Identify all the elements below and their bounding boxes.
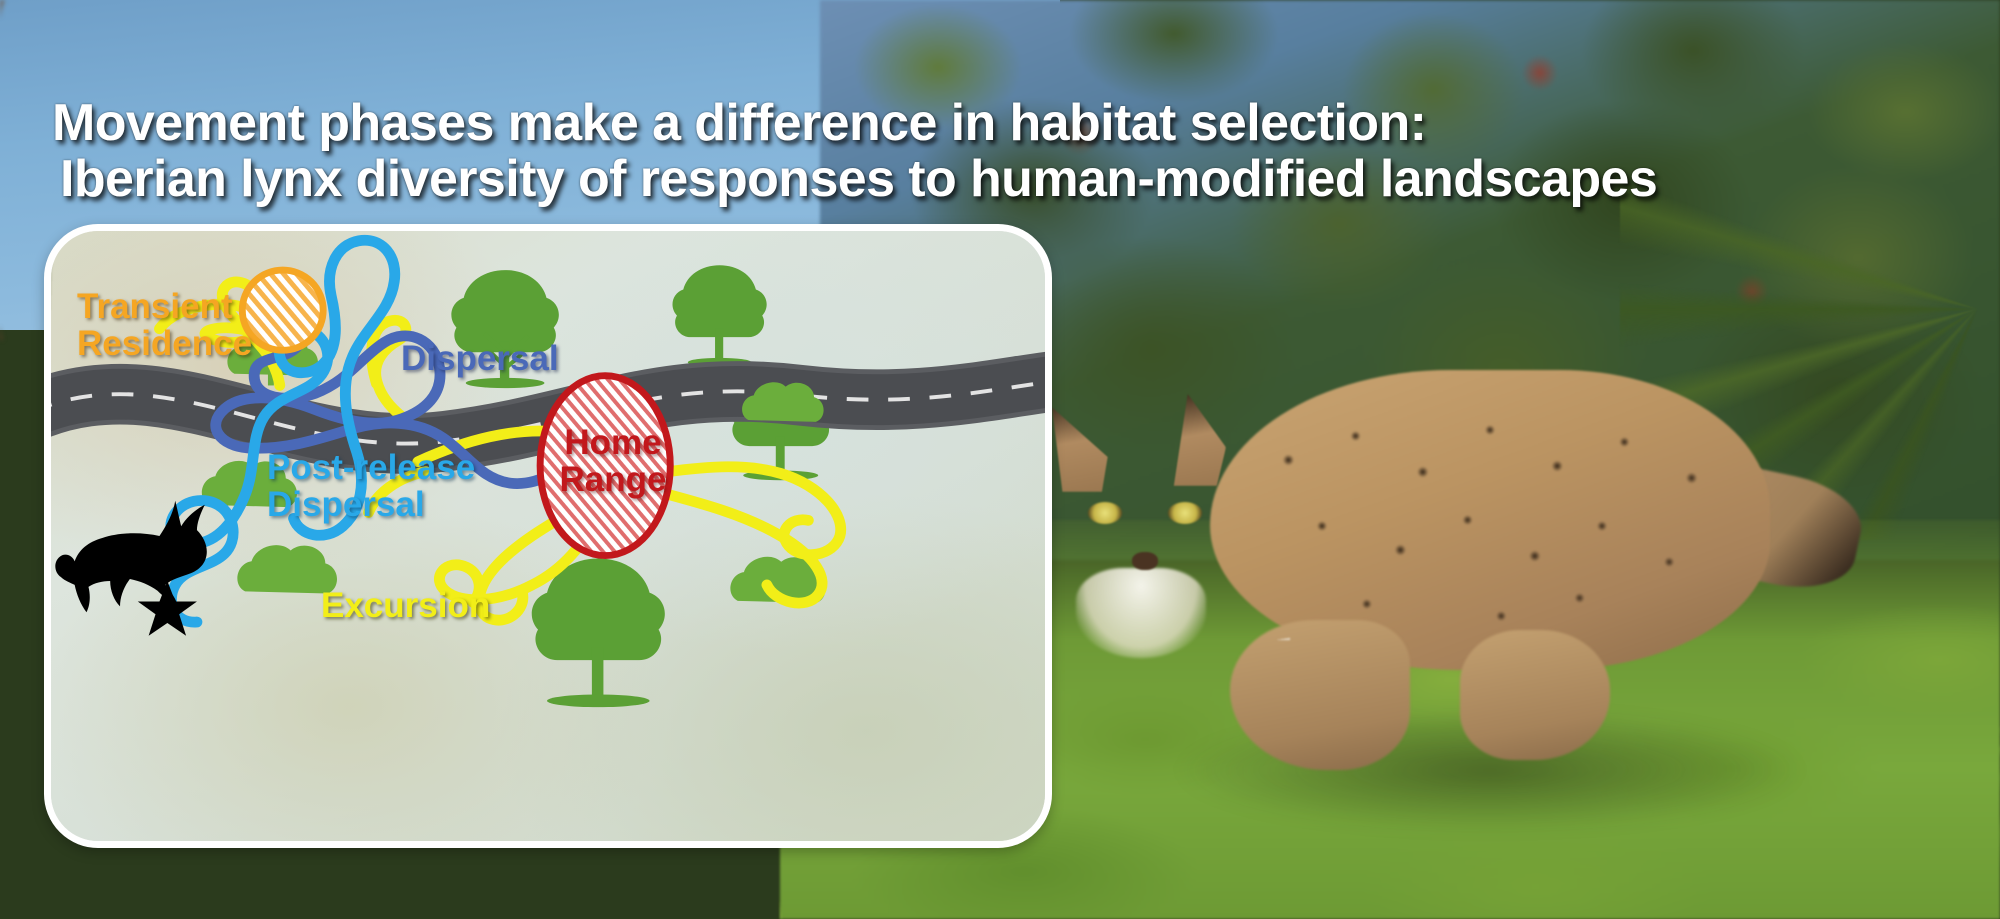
label-excursion: Excursion (321, 588, 490, 625)
lynx-hindleg (1460, 630, 1610, 760)
graphical-abstract: Movement phases make a difference in hab… (0, 0, 2000, 919)
label-post-release-dispersal: Post-release Dispersal (267, 450, 475, 524)
title-line-1: Movement phases make a difference in hab… (52, 94, 1426, 152)
lynx-ear-right (1168, 394, 1226, 486)
movement-phases-diagram-panel: Transient Residence Dispersal Post-relea… (44, 224, 1052, 848)
lynx-eye-left (1088, 502, 1122, 524)
lynx-silhouette-icon (55, 501, 206, 612)
lynx-eye-right (1168, 502, 1202, 524)
label-home-range: Home Range (537, 425, 689, 499)
lynx-beard-ruff (1076, 568, 1206, 658)
lynx-ear-left (1052, 400, 1110, 492)
label-transient-residence: Transient Residence (77, 289, 252, 363)
lynx-head (1040, 382, 1255, 597)
lynx-photo-subject (1030, 330, 1820, 850)
transient-residence-marker (242, 270, 323, 350)
title-line-2: Iberian lynx diversity of responses to h… (52, 151, 1982, 208)
label-dispersal: Dispersal (401, 341, 559, 378)
lynx-nose (1132, 552, 1158, 570)
